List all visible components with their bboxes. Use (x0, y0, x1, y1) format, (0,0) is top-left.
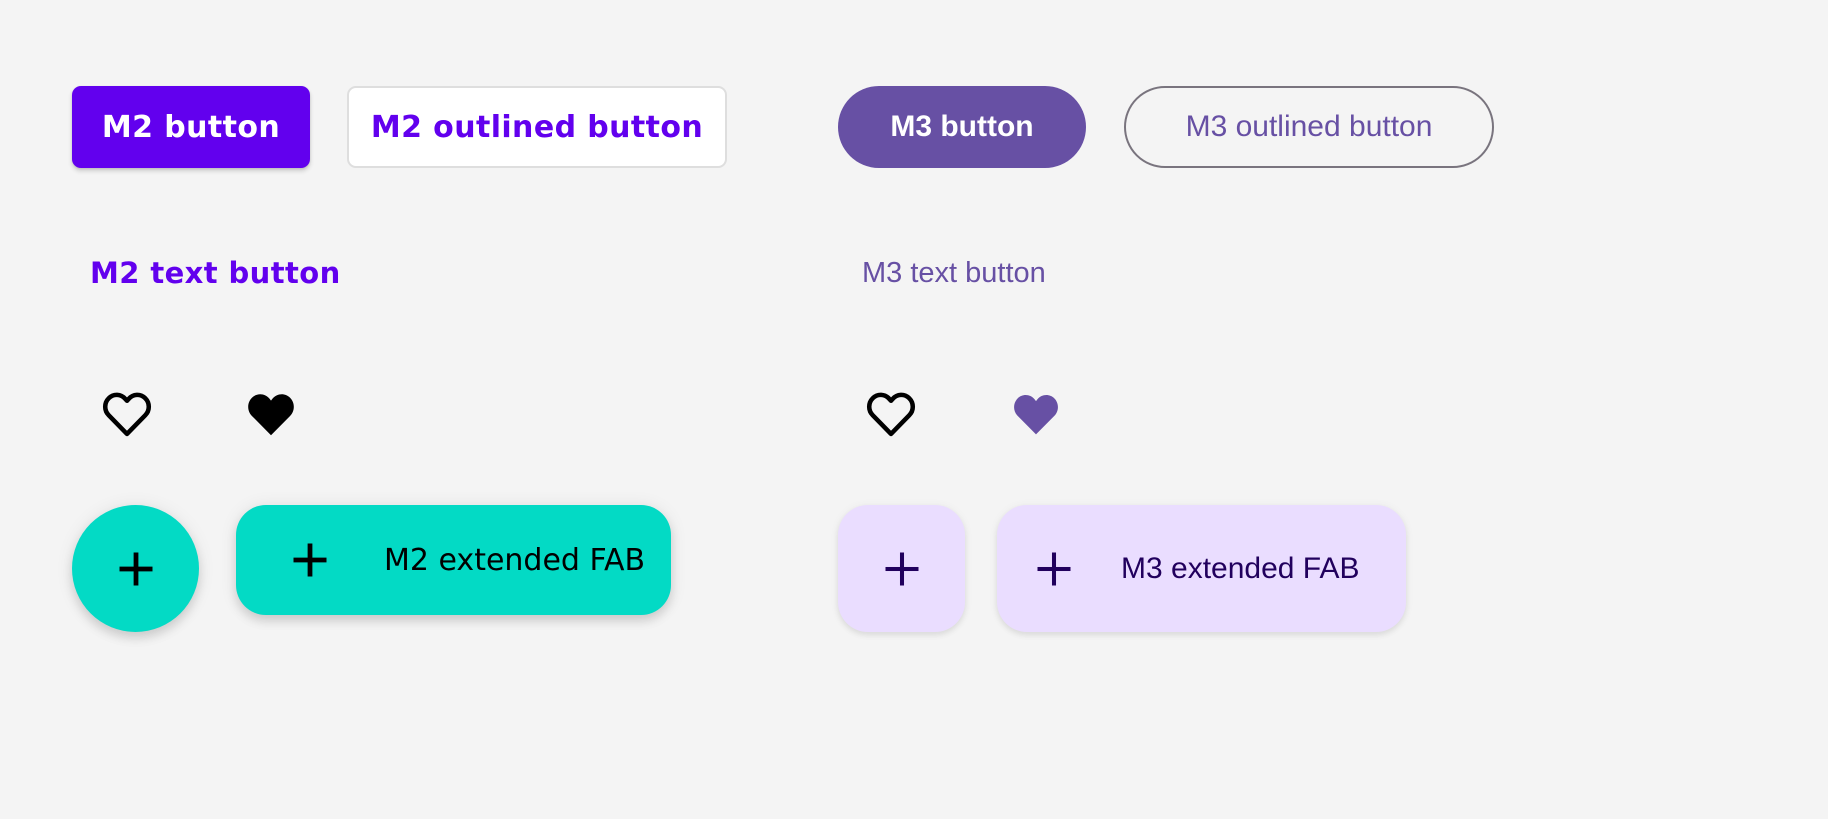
m3-outlined-button[interactable]: M3 outlined button (1124, 86, 1494, 168)
m3-favorite-outline-button[interactable] (861, 385, 921, 445)
plus-icon (114, 547, 158, 591)
m2-text-button[interactable]: M2 text button (90, 252, 341, 294)
m2-extended-fab-button[interactable]: M2 extended FAB (236, 505, 671, 615)
m3-favorite-filled-button[interactable] (1006, 385, 1066, 445)
m3-text-button[interactable]: M3 text button (862, 252, 1046, 294)
m2-fab-button[interactable] (72, 505, 199, 632)
heart-filled-icon (1011, 391, 1061, 440)
m3-extended-fab-button[interactable]: M3 extended FAB (997, 505, 1406, 632)
heart-outline-icon (101, 390, 153, 441)
plus-icon (288, 538, 332, 582)
plus-icon (1032, 547, 1076, 591)
m2-favorite-outline-button[interactable] (97, 385, 157, 445)
m2-outlined-button[interactable]: M2 outlined button (347, 86, 727, 168)
plus-icon (880, 547, 924, 591)
m3-fab-button[interactable] (838, 505, 965, 632)
heart-filled-icon (245, 390, 297, 441)
m2-favorite-filled-button[interactable] (241, 385, 301, 445)
m2-extended-fab-label: M2 extended FAB (384, 543, 645, 578)
m3-extended-fab-label: M3 extended FAB (1121, 552, 1359, 586)
m2-filled-button[interactable]: M2 button (72, 86, 310, 168)
m3-filled-button[interactable]: M3 button (838, 86, 1086, 168)
heart-outline-icon (865, 390, 917, 441)
component-showcase: M2 button M2 outlined button M3 button M… (0, 0, 1828, 819)
